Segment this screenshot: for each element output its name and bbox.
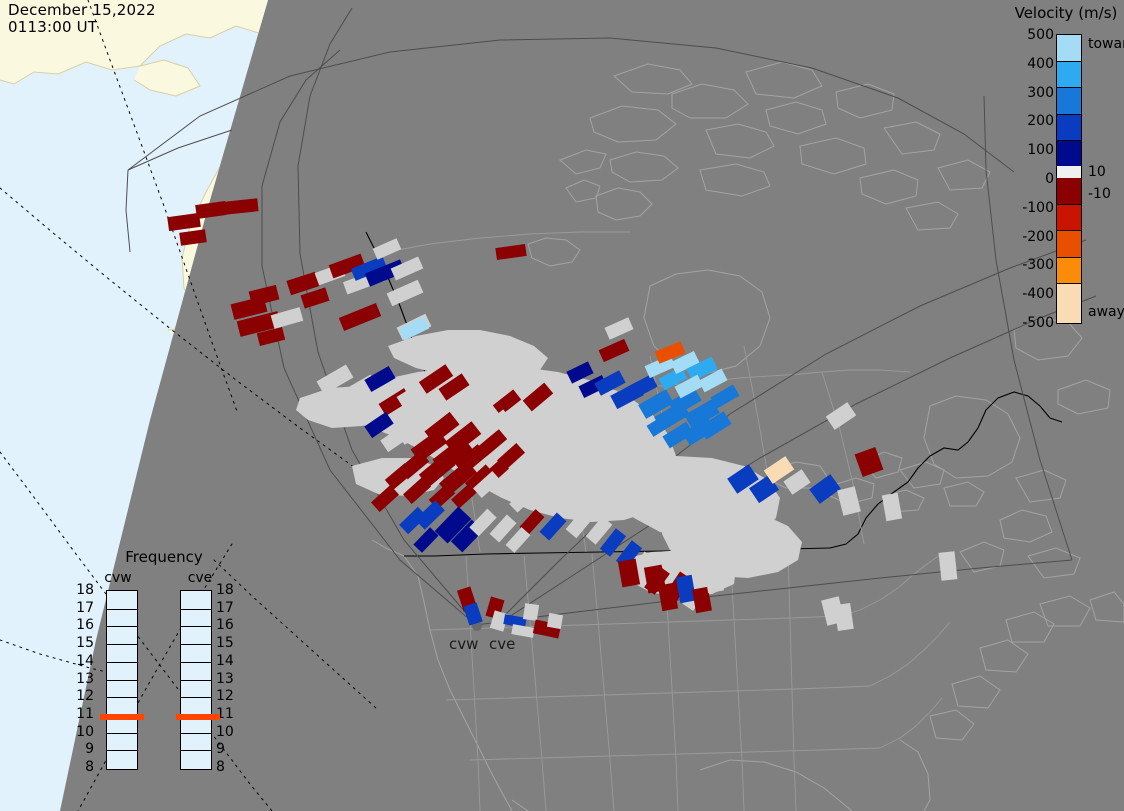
frequency-bar-cvw (106, 590, 138, 770)
colorbar-away-label: away (1088, 304, 1124, 320)
frequency-graduation (181, 680, 211, 681)
frequency-tick-label: 15 (68, 635, 94, 651)
site-label-cve: cve (489, 635, 515, 653)
timestamp: December 15,2022 0113:00 UT (8, 2, 156, 36)
frequency-tick-label: 15 (216, 635, 242, 651)
frequency-legend-title: Frequency (84, 548, 244, 566)
colorbar-tick-label: 500 (1008, 27, 1054, 43)
frequency-graduation (181, 609, 211, 610)
colorbar-tick-label: 200 (1008, 113, 1054, 129)
colorbar-tick-label: -400 (1008, 286, 1054, 302)
colorbar-tick-label: 0 (1008, 171, 1054, 187)
colorbar-tick-label: 100 (1008, 142, 1054, 158)
frequency-legend: Frequency cvw 18171615141312111098 cve 1… (84, 548, 244, 788)
frequency-tick-label: 9 (216, 741, 242, 757)
frequency-tick-label: 14 (68, 653, 94, 669)
colorbar-segment (1057, 140, 1081, 166)
frequency-tick-label: 17 (68, 600, 94, 616)
velocity-cell (566, 361, 593, 383)
frequency-tick-label: 12 (216, 688, 242, 704)
colorbar-tick-label: -100 (1008, 200, 1054, 216)
frequency-marker-cve (176, 714, 220, 720)
velocity-cell (364, 412, 393, 438)
frequency-graduation (107, 680, 137, 681)
frequency-radar-name-cvw: cvw (88, 570, 148, 586)
colorbar-tick-label: -300 (1008, 257, 1054, 273)
velocity-cell (179, 229, 207, 245)
colorbar-segment (1057, 114, 1081, 140)
velocity-cell (676, 575, 696, 603)
velocity-cell (809, 474, 841, 504)
velocity-cell (271, 307, 304, 329)
colorbar-segment (1057, 35, 1081, 61)
velocity-cell (495, 244, 526, 260)
velocity-cell (195, 201, 227, 219)
frequency-tick-label: 16 (216, 617, 242, 633)
velocity-cell (826, 402, 857, 430)
frequency-graduation (181, 644, 211, 645)
velocity-colorbar: Velocity (m/s) 5004003002001000-100-200-… (1008, 0, 1124, 340)
colorbar-tick-label: -500 (1008, 315, 1054, 331)
velocity-cell (371, 485, 399, 512)
colorbar-title: Velocity (m/s) (1002, 4, 1124, 22)
velocity-cell (599, 339, 630, 362)
velocity-cell (545, 397, 574, 425)
frequency-graduation (181, 733, 211, 734)
frequency-graduation (107, 662, 137, 663)
velocity-cell (223, 198, 258, 214)
frequency-graduation (181, 626, 211, 627)
colorbar-gs-low-label: -10 (1088, 186, 1111, 202)
frequency-graduation (181, 662, 211, 663)
frequency-tick-label: 10 (216, 724, 242, 740)
frequency-graduation (181, 750, 211, 751)
colorbar-segment (1057, 61, 1081, 87)
colorbar-tick-label: 400 (1008, 56, 1054, 72)
colorbar-tick-label: -200 (1008, 229, 1054, 245)
velocity-cell (561, 411, 589, 438)
velocity-cell (855, 447, 884, 477)
velocity-cell (834, 603, 853, 631)
colorbar-segment (1057, 230, 1081, 256)
velocity-cell (837, 486, 861, 516)
velocity-cell (249, 285, 280, 306)
velocity-cell (545, 469, 572, 497)
colorbar-tick-label: 300 (1008, 85, 1054, 101)
frequency-graduation (107, 750, 137, 751)
frequency-bar-cve (180, 590, 212, 770)
velocity-cell (391, 256, 424, 280)
colorbar-gs-high-label: 10 (1088, 164, 1106, 180)
frequency-tick-label: 9 (68, 741, 94, 757)
velocity-cell (373, 238, 402, 260)
velocity-cell (529, 450, 559, 480)
velocity-cell (547, 613, 563, 629)
frequency-graduation (107, 733, 137, 734)
frequency-tick-label: 17 (216, 600, 242, 616)
velocity-cell (339, 303, 381, 331)
velocity-cell (387, 280, 424, 307)
velocity-cell (463, 602, 482, 625)
frequency-graduation (107, 697, 137, 698)
colorbar-segment (1057, 204, 1081, 230)
colorbar-segment (1057, 87, 1081, 113)
frequency-tick-label: 10 (68, 724, 94, 740)
frequency-tick-label: 18 (216, 582, 242, 598)
colorbar-segment (1057, 257, 1081, 283)
frequency-tick-label: 14 (216, 653, 242, 669)
velocity-cell (882, 493, 902, 521)
colorbar-toward-label: toward (1088, 36, 1124, 52)
frequency-graduation (107, 609, 137, 610)
colorbar-segment (1057, 178, 1081, 204)
colorbar-gradient (1056, 34, 1082, 324)
frequency-marker-cvw (100, 714, 144, 720)
colorbar-segment (1057, 166, 1081, 178)
frequency-tick-label: 13 (216, 671, 242, 687)
frequency-tick-label: 12 (68, 688, 94, 704)
frequency-graduation (107, 644, 137, 645)
velocity-cell (523, 603, 539, 621)
velocity-cell (939, 551, 958, 581)
frequency-tick-label: 18 (68, 582, 94, 598)
frequency-tick-label: 8 (216, 759, 242, 775)
frequency-tick-label: 8 (68, 759, 94, 775)
frequency-tick-label: 11 (68, 706, 94, 722)
velocity-cell (167, 213, 201, 231)
frequency-tick-label: 13 (68, 671, 94, 687)
velocity-cell (559, 485, 586, 513)
map-canvas: December 15,2022 0113:00 UT cvw cve Velo… (0, 0, 1124, 811)
colorbar-segment (1057, 283, 1081, 323)
velocity-cell (604, 317, 633, 339)
frequency-graduation (107, 626, 137, 627)
frequency-graduation (181, 697, 211, 698)
frequency-tick-label: 16 (68, 617, 94, 633)
site-label-cvw: cvw (449, 635, 478, 653)
